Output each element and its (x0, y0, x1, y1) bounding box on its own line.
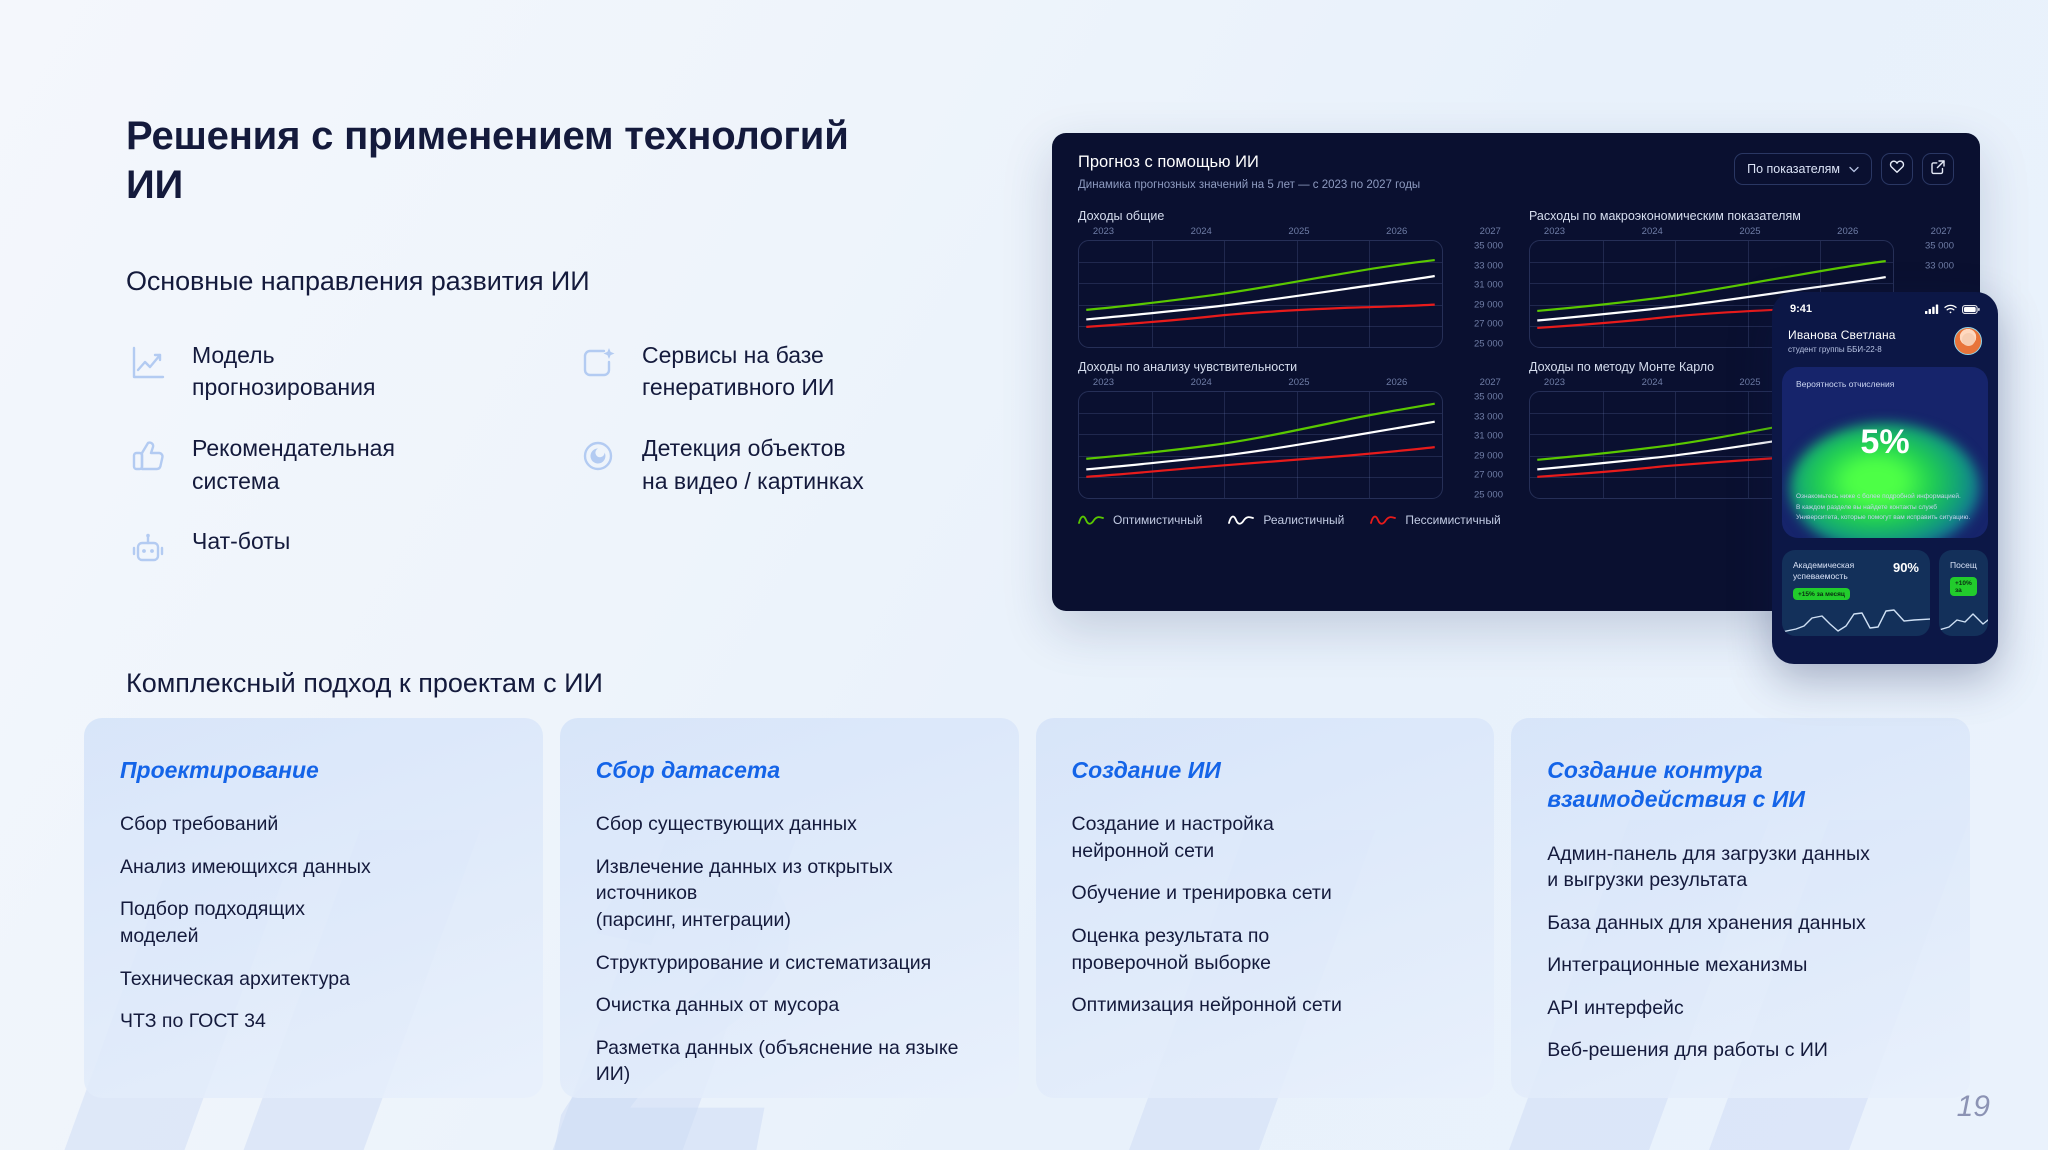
legend-label: Оптимистичный (1113, 513, 1202, 527)
feature-item-recommendation-system: Рекомендательная система (126, 432, 576, 497)
sparkline-icon (1782, 602, 1930, 636)
user-role: студент группы ББИ-22-8 (1788, 345, 1896, 354)
feature-label: Сервисы на базе генеративного ИИ (642, 339, 834, 404)
metric-text: Академическая успеваемость +15% за месяц (1793, 560, 1854, 601)
card-item-list: Создание и настройка нейронной сети Обуч… (1072, 811, 1461, 1018)
metric-name: Посещ (1950, 560, 1977, 571)
dropout-risk-card: Вероятность отчисления 5% Ознакомьтесь н… (1782, 367, 1988, 538)
feature-list: Модель прогнозирования Сервисы на базе г… (126, 339, 906, 572)
dashboard-title: Прогноз с помощью ИИ (1078, 153, 1420, 172)
thumbs-up-icon (126, 434, 170, 478)
dashboard-heading-group: Прогноз с помощью ИИ Динамика прогнозных… (1078, 153, 1420, 191)
legend-label: Пессимистичный (1405, 513, 1500, 527)
user-name: Иванова Светлана (1788, 328, 1896, 342)
wave-line-icon (1370, 514, 1396, 526)
card-item-list: Админ-панель для загрузки данных и выгру… (1547, 841, 1936, 1064)
list-item: Техническая архитектура (120, 966, 509, 993)
feature-label: Чат-боты (192, 525, 290, 558)
feature-item-forecast-model: Модель прогнозирования (126, 339, 576, 404)
metrics-filter-dropdown[interactable]: По показателям (1734, 153, 1872, 185)
metric-card-attendance[interactable]: Посещ +10% за (1939, 550, 1988, 636)
metric-header: Академическая успеваемость +15% за месяц… (1793, 560, 1919, 601)
legend-item-pessimistic: Пессимистичный (1370, 513, 1500, 527)
list-item: Разметка данных (объяснение на языке ИИ) (596, 1035, 985, 1088)
feature-item-chatbots: Чат-боты (126, 525, 576, 571)
approach-cards: Проектирование Сбор требований Анализ им… (84, 718, 1970, 1098)
list-item: Структурирование и систематизация (596, 950, 985, 977)
chart-plot-area: 35 000 33 000 31 000 29 000 27 000 25 00… (1078, 391, 1503, 499)
phone-user-header: Иванова Светлана студент группы ББИ-22-8 (1772, 319, 1998, 367)
risk-value: 5% (1796, 423, 1974, 462)
chevron-down-icon (1849, 162, 1859, 176)
metric-value: 90% (1893, 560, 1919, 575)
sparkle-square-icon (576, 341, 620, 385)
list-item: Анализ имеющихся данных (120, 854, 509, 881)
list-item: Оценка результата по проверочной выборке (1072, 923, 1461, 976)
metric-text: Посещ +10% за (1950, 560, 1977, 596)
status-time: 9:41 (1790, 303, 1812, 315)
dashboard-actions: По показателям (1734, 153, 1954, 185)
phone-status-bar: 9:41 (1772, 292, 1998, 319)
metrics-filter-label: По показателям (1747, 162, 1840, 176)
favorite-button[interactable] (1881, 153, 1913, 185)
chart-total-income: Доходы общие 2023 2024 2025 2026 2027 (1078, 209, 1503, 348)
phone-mockup: 9:41 Иванова Светлана студент группы ББИ… (1772, 292, 1998, 664)
feature-item-object-detection: Детекция объектов на видео / картинках (576, 432, 956, 497)
list-item: Очистка данных от мусора (596, 992, 985, 1019)
list-item: Подбор подходящих моделей (120, 896, 509, 949)
chart-title: Расходы по макроэкономическим показателя… (1529, 209, 1954, 223)
card-title: Создание ИИ (1072, 756, 1461, 785)
risk-note: Ознакомьтесь ниже с более подробной инфо… (1796, 492, 1974, 524)
dashboard-subtitle: Динамика прогнозных значений на 5 лет — … (1078, 179, 1420, 191)
feature-item-generative-services: Сервисы на базе генеративного ИИ (576, 339, 956, 404)
avatar[interactable] (1954, 327, 1982, 355)
chart-y-axis: 35 000 33 000 31 000 29 000 27 000 25 00… (1451, 391, 1503, 499)
list-item: Извлечение данных из открытых источников… (596, 854, 985, 934)
chart-canvas (1078, 240, 1443, 348)
sparkline-icon (1939, 602, 1988, 636)
card-title: Сбор датасета (596, 756, 985, 785)
share-button[interactable] (1922, 153, 1954, 185)
list-item: Сбор требований (120, 811, 509, 838)
risk-label: Вероятность отчисления (1796, 379, 1974, 389)
list-item: Обучение и тренировка сети (1072, 880, 1461, 907)
eye-detect-icon (576, 434, 620, 478)
metric-delta-badge: +10% за (1950, 577, 1977, 596)
page-title: Решения с применением технологий ИИ (126, 112, 906, 210)
card-dataset-collection: Сбор датасета Сбор существующих данных И… (560, 718, 1019, 1098)
chart-title: Доходы по анализу чувствительности (1078, 360, 1503, 374)
list-item: API интерфейс (1547, 995, 1936, 1022)
list-item: База данных для хранения данных (1547, 910, 1936, 937)
phone-metric-cards: Академическая успеваемость +15% за месяц… (1772, 538, 1998, 636)
feature-label: Модель прогнозирования (192, 339, 375, 404)
external-link-icon (1930, 159, 1946, 180)
feature-label: Детекция объектов на видео / картинках (642, 432, 864, 497)
card-title: Создание контура взаимодействия с ИИ (1547, 756, 1936, 815)
card-item-list: Сбор требований Анализ имеющихся данных … (120, 811, 509, 1034)
legend-item-realistic: Реалистичный (1228, 513, 1344, 527)
status-icons (1925, 304, 1980, 314)
chart-x-axis: 2023 2024 2025 2026 2027 (1078, 377, 1503, 391)
metric-delta-badge: +15% за месяц (1793, 588, 1850, 600)
legend-label: Реалистичный (1263, 513, 1344, 527)
metric-header: Посещ +10% за (1950, 560, 1977, 596)
card-ai-creation: Создание ИИ Создание и настройка нейронн… (1036, 718, 1495, 1098)
chart-y-axis: 35 000 33 000 31 000 29 000 27 000 25 00… (1451, 240, 1503, 348)
battery-icon (1962, 305, 1980, 314)
chart-sensitivity-income: Доходы по анализу чувствительности 2023 … (1078, 360, 1503, 499)
robot-icon (126, 527, 170, 571)
list-item: Веб-решения для работы с ИИ (1547, 1037, 1936, 1064)
card-design: Проектирование Сбор требований Анализ им… (84, 718, 543, 1098)
list-item: Админ-панель для загрузки данных и выгру… (1547, 841, 1936, 894)
cellular-icon (1925, 304, 1939, 314)
card-title: Проектирование (120, 756, 509, 785)
metric-name: Академическая успеваемость (1793, 560, 1854, 583)
phone-user-text: Иванова Светлана студент группы ББИ-22-8 (1788, 328, 1896, 354)
card-interaction-loop: Создание контура взаимодействия с ИИ Адм… (1511, 718, 1970, 1098)
page-number: 19 (1957, 1090, 1990, 1124)
chart-plot-area: 35 000 33 000 31 000 29 000 27 000 25 00… (1078, 240, 1503, 348)
card-item-list: Сбор существующих данных Извлечение данн… (596, 811, 985, 1098)
wave-line-icon (1228, 514, 1254, 526)
chart-title: Доходы общие (1078, 209, 1503, 223)
left-content-column: Решения с применением технологий ИИ Осно… (126, 112, 906, 571)
wifi-icon (1944, 304, 1957, 314)
metric-card-academic[interactable]: Академическая успеваемость +15% за месяц… (1782, 550, 1930, 636)
wave-line-icon (1078, 514, 1104, 526)
list-item: Интеграционные механизмы (1547, 952, 1936, 979)
list-item: Создание и настройка нейронной сети (1072, 811, 1461, 864)
list-item: Сбор существующих данных (596, 811, 985, 838)
section-title-approach: Комплексный подход к проектам с ИИ (126, 668, 603, 699)
heart-icon (1889, 159, 1905, 179)
chart-line-icon (126, 341, 170, 385)
chart-x-axis: 2023 2024 2025 2026 2027 (1529, 226, 1954, 240)
feature-label: Рекомендательная система (192, 432, 395, 497)
list-item: Оптимизация нейронной сети (1072, 992, 1461, 1019)
legend-item-optimistic: Оптимистичный (1078, 513, 1202, 527)
section-title-directions: Основные направления развития ИИ (126, 266, 906, 297)
dashboard-header: Прогноз с помощью ИИ Динамика прогнозных… (1078, 153, 1954, 191)
chart-canvas (1078, 391, 1443, 499)
list-item: ЧТЗ по ГОСТ 34 (120, 1008, 509, 1035)
chart-x-axis: 2023 2024 2025 2026 2027 (1078, 226, 1503, 240)
